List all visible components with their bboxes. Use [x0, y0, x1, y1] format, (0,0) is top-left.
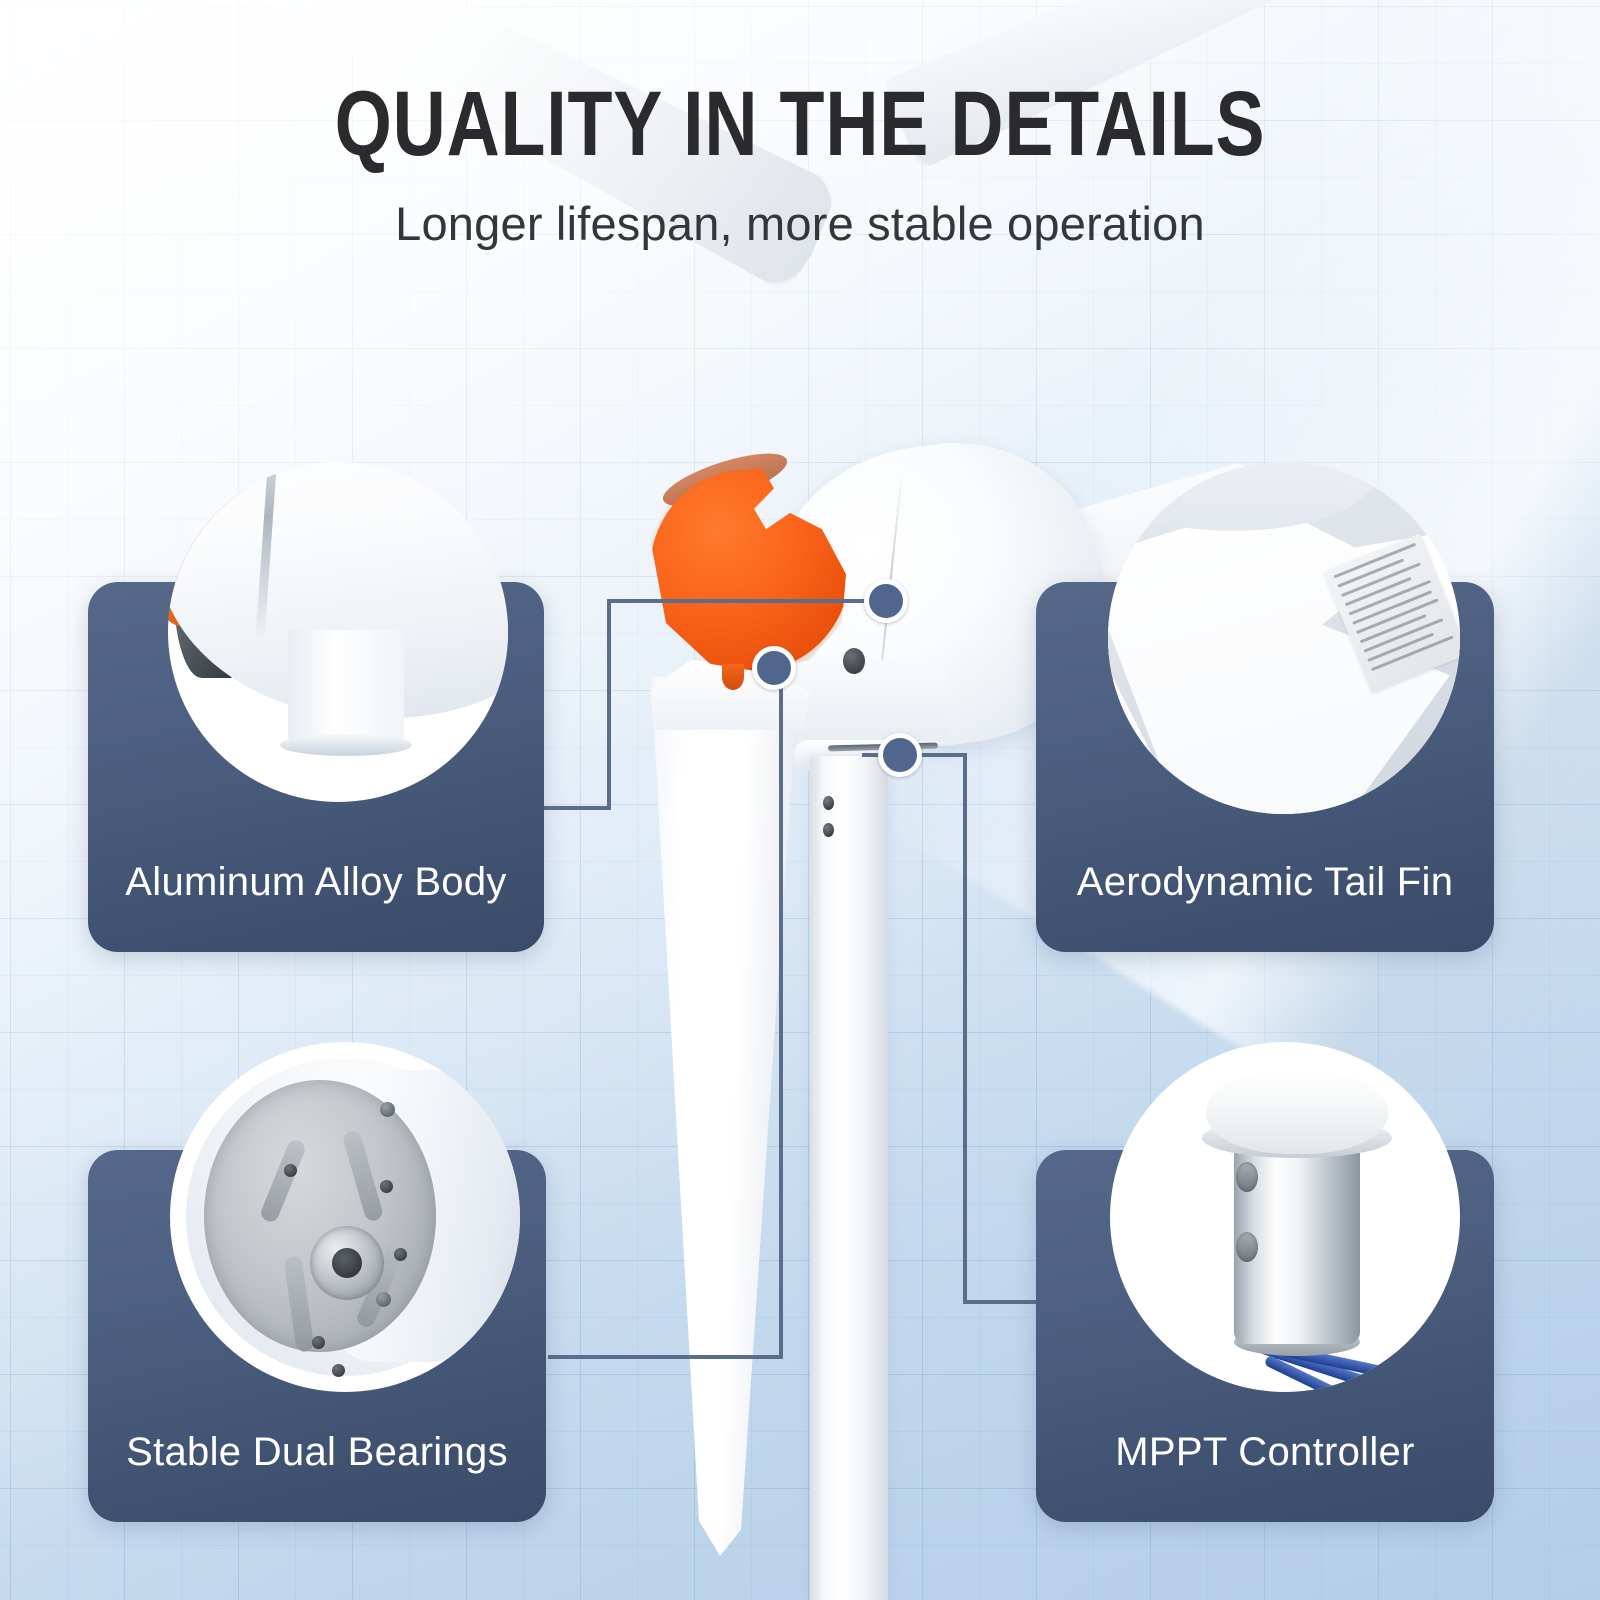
connector-mppt-controller — [900, 755, 1040, 1302]
connector-aluminum-alloy-body — [520, 601, 886, 808]
feature-photo-stable-dual-bearings — [170, 1042, 520, 1392]
bearing-hole — [284, 1164, 297, 1177]
feature-photo-aluminum-alloy-body — [168, 462, 508, 802]
controller-dome-top — [1206, 1068, 1388, 1154]
body-neck — [288, 630, 404, 750]
feature-photo-mppt-controller — [1110, 1042, 1460, 1392]
housing-bolt — [380, 1102, 395, 1117]
feature-label-aluminum-alloy-body: Aluminum Alloy Body — [88, 860, 544, 905]
page-subtitle: Longer lifespan, more stable operation — [0, 196, 1600, 251]
bearing-spoke — [342, 1129, 385, 1222]
bearing-hole — [312, 1336, 325, 1349]
feature-photo-aerodynamic-tail-fin — [1108, 462, 1460, 814]
housing-bolt — [376, 1292, 391, 1307]
bearing-spoke — [259, 1138, 308, 1224]
infographic-canvas: QUALITY IN THE DETAILS Longer lifespan, … — [0, 0, 1600, 1600]
hotspot-dot-tower-collar[interactable] — [878, 733, 922, 777]
feature-label-aerodynamic-tail-fin: Aerodynamic Tail Fin — [1036, 860, 1494, 905]
bearing-center-hub — [310, 1226, 384, 1300]
controller-set-screw — [1236, 1232, 1258, 1262]
feature-label-stable-dual-bearings: Stable Dual Bearings — [88, 1430, 546, 1475]
bearing-hole — [380, 1180, 393, 1193]
body-neck-flange — [280, 734, 412, 756]
controller-set-screw — [1236, 1162, 1258, 1192]
bearing-plate — [204, 1080, 436, 1352]
hotspot-dot-nacelle[interactable] — [864, 579, 908, 623]
bearing-hole — [394, 1248, 407, 1261]
page-title: QUALITY IN THE DETAILS — [160, 78, 1440, 170]
hotspot-dot-blade-root[interactable] — [752, 646, 796, 690]
bearing-hole — [332, 1364, 345, 1377]
feature-label-mppt-controller: MPPT Controller — [1036, 1430, 1494, 1475]
connector-stable-dual-bearings — [548, 683, 781, 1357]
